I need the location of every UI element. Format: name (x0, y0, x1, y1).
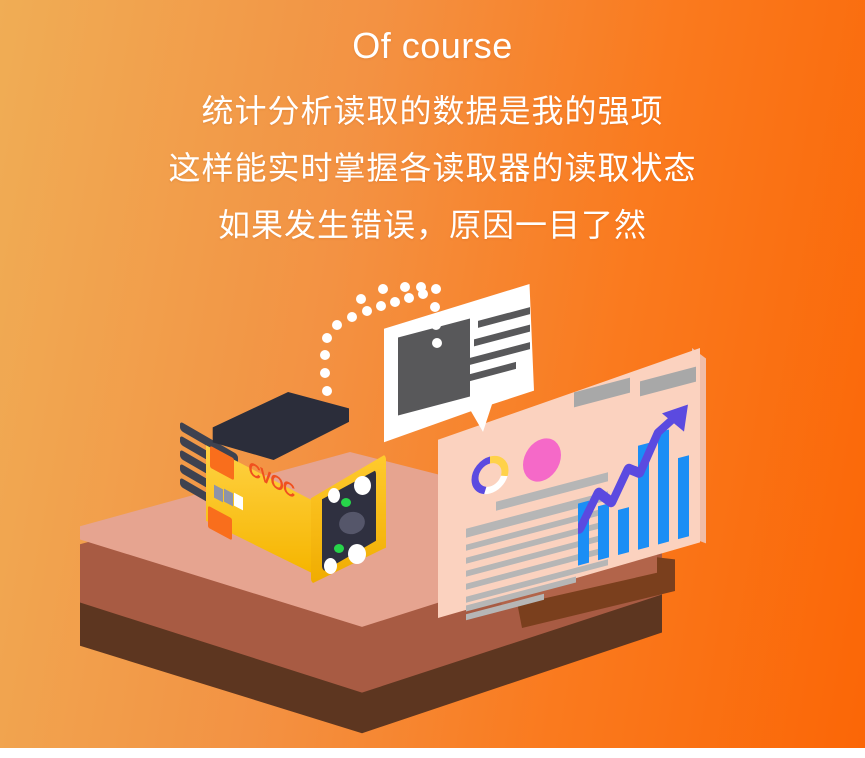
trail-dot (356, 294, 366, 304)
trail-dot (332, 320, 342, 330)
illustration: CVOC (0, 0, 865, 758)
status-indicator (334, 544, 344, 553)
trail-dot (404, 293, 414, 303)
trail-dot (416, 282, 426, 292)
trail-dot (376, 301, 386, 311)
status-indicator (341, 498, 351, 507)
led-light (328, 488, 340, 503)
trail-dot (400, 282, 410, 292)
trail-dot (431, 284, 441, 294)
bottom-edge-strip (0, 748, 865, 758)
trail-dot (431, 320, 441, 330)
trail-dot (320, 368, 330, 378)
trail-dot (378, 284, 388, 294)
led-light (354, 476, 371, 495)
trail-dot (322, 333, 332, 343)
trail-dot (432, 338, 442, 348)
led-light (348, 544, 366, 564)
led-light (324, 558, 337, 574)
trail-dot (347, 312, 357, 322)
poster-canvas: Of course 统计分析读取的数据是我的强项 这样能实时掌握各读取器的读取状… (0, 0, 865, 758)
trail-dot (390, 297, 400, 307)
trail-dot (320, 350, 330, 360)
trail-dot (362, 306, 372, 316)
trail-dot (430, 302, 440, 312)
